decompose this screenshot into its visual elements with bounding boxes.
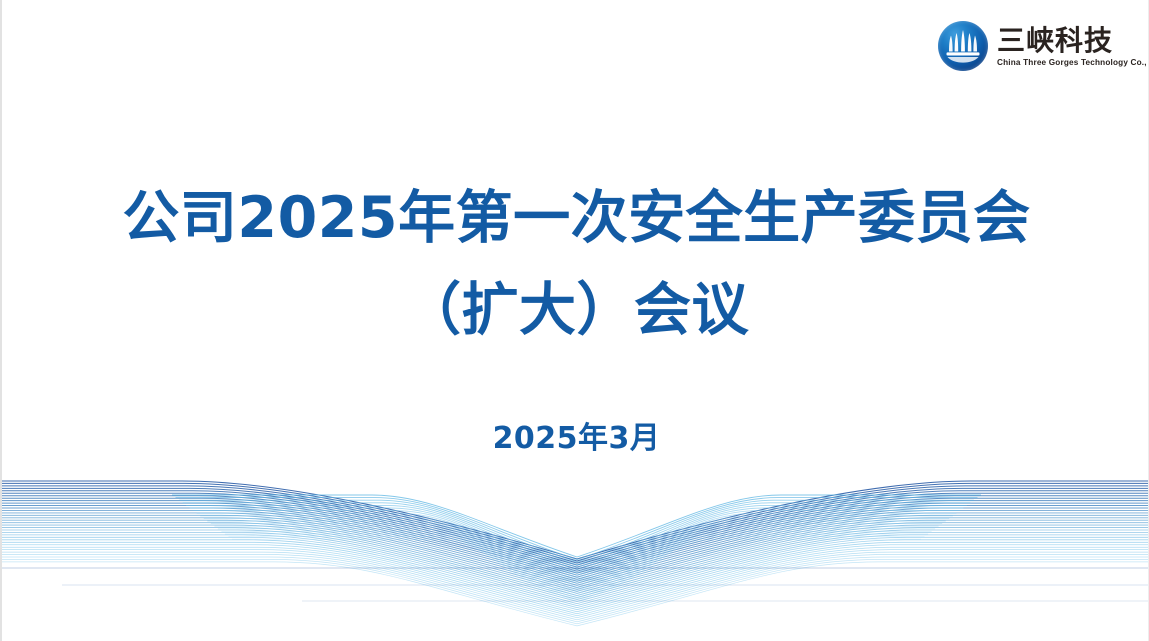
logo-company-name-en: China Three Gorges Technology Co., Ltd. [997, 58, 1149, 68]
presentation-slide: 三峡科技 China Three Gorges Technology Co., … [0, 0, 1149, 641]
logo-wordmark: 三峡科技 China Three Gorges Technology Co., … [997, 25, 1149, 68]
slide-title: 公司2025年第一次安全生产委员会 （扩大）会议 [2, 172, 1149, 356]
logo-company-name-cn: 三峡科技 [997, 26, 1149, 56]
decorative-wave-lines [2, 473, 1149, 641]
three-gorges-dam-emblem-icon [938, 21, 988, 71]
slide-title-line-2: （扩大）会议 [2, 264, 1149, 356]
slide-title-line-1: 公司2025年第一次安全生产委员会 [2, 172, 1149, 264]
company-logo: 三峡科技 China Three Gorges Technology Co., … [938, 17, 1128, 75]
slide-date-subtitle: 2025年3月 [2, 419, 1149, 459]
